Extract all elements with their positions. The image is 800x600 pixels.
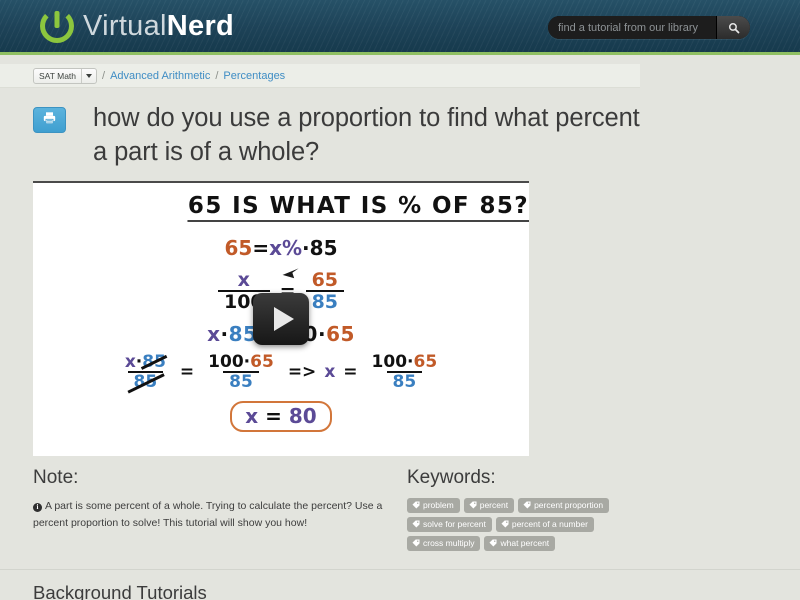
worksheet-equation-1: 65=x%·85 (33, 236, 529, 260)
keyword-tag[interactable]: percent of a number (496, 517, 594, 532)
background-tutorials-section: Background Tutorials (0, 569, 800, 600)
keyword-label: what percent (500, 538, 549, 548)
eq4-equals-1: = (180, 362, 194, 382)
title-row: how do you use a proportion to find what… (33, 102, 653, 170)
keywords-section: Keywords: problem percent percent propor… (407, 467, 653, 551)
search-input[interactable] (548, 16, 716, 39)
eq4-frac1-denominator-cancelled: 85 (128, 371, 164, 391)
eq1-right: 85 (310, 236, 338, 260)
eq4-frac2-numerator: 100·65 (202, 353, 280, 371)
eq1-left: 65 (224, 236, 252, 260)
tag-icon (489, 539, 497, 547)
eq3-65: 65 (326, 322, 355, 346)
eq3-dot-1: · (220, 322, 228, 346)
keyword-tag[interactable]: cross multiply (407, 536, 480, 551)
eq4-f3-65: 65 (414, 352, 438, 372)
info-icon: i (33, 503, 42, 512)
eq2-frac2-denominator: 85 (306, 290, 344, 313)
tag-icon (412, 520, 420, 528)
eq2-frac2-numerator: 65 (306, 270, 344, 291)
eq4-fraction-3: 100·65 85 (366, 353, 444, 392)
keyword-label: percent proportion (534, 500, 603, 510)
note-keywords-row: Note: iA part is some percent of a whole… (33, 467, 653, 551)
printer-icon (42, 111, 57, 130)
background-tutorials-heading: Background Tutorials (33, 582, 800, 600)
logo-text-nerd: Nerd (167, 10, 234, 42)
chevron-down-icon (81, 69, 96, 83)
tag-icon (501, 520, 509, 528)
eq4-frac3-numerator: 100·65 (366, 353, 444, 371)
print-button[interactable] (33, 107, 66, 133)
eq3-x: x (207, 322, 220, 346)
answer-equals: = (265, 404, 282, 428)
eq2-fraction-right: 65 85 (306, 270, 344, 313)
note-heading: Note: (33, 467, 407, 489)
logo-text: VirtualNerd (83, 10, 234, 43)
note-text: A part is some percent of a whole. Tryin… (33, 500, 382, 529)
keyword-tag-list: problem percent percent proportion solve… (407, 498, 653, 551)
note-section: Note: iA part is some percent of a whole… (33, 467, 407, 551)
video-player[interactable]: 65 IS WHAT IS % OF 85? 65=x%·85 x 100 = … (33, 181, 529, 456)
eq4-fraction-2: 100·65 85 (202, 353, 280, 392)
subject-dropdown[interactable]: SAT Math (33, 68, 97, 84)
logo-text-virtual: Virtual (83, 10, 167, 42)
eq4-equals-2: = (343, 362, 357, 382)
tag-icon (412, 501, 420, 509)
eq4-f3-100: 100 (372, 352, 408, 372)
worksheet-answer-row: x = 80 (33, 392, 529, 432)
keyword-tag[interactable]: percent (464, 498, 514, 513)
site-logo[interactable]: VirtualNerd (40, 9, 234, 43)
breadcrumb-separator-1: / (102, 70, 105, 82)
eq2-frac1-numerator: x (232, 270, 256, 291)
play-button[interactable] (253, 293, 309, 345)
tag-icon (523, 501, 531, 509)
keywords-heading: Keywords: (407, 467, 653, 489)
eq1-x-percent: x% (269, 236, 302, 260)
keyword-label: percent (480, 500, 508, 510)
keyword-tag[interactable]: problem (407, 498, 460, 513)
eq4-f1-85-cancelled: 85 (142, 352, 166, 372)
eq4-frac2-denominator: 85 (223, 371, 259, 391)
eq4-fraction-1: x·85 85 (119, 353, 172, 392)
breadcrumb: SAT Math / Advanced Arithmetic / Percent… (0, 64, 640, 88)
answer-x: x (245, 404, 258, 428)
worksheet-title: 65 IS WHAT IS % OF 85? (188, 193, 529, 222)
breadcrumb-link-percentages[interactable]: Percentages (223, 70, 285, 82)
page-title: how do you use a proportion to find what… (93, 102, 653, 170)
eq4-f1-x: x (125, 352, 136, 372)
tag-icon (412, 539, 420, 547)
keyword-label: problem (423, 500, 454, 510)
note-body: iA part is some percent of a whole. Tryi… (33, 498, 407, 533)
keyword-label: cross multiply (423, 538, 474, 548)
breadcrumb-separator-2: / (215, 70, 218, 82)
keyword-label: solve for percent (423, 519, 486, 529)
eq3-dot-2: · (318, 322, 326, 346)
keyword-tag[interactable]: percent proportion (518, 498, 609, 513)
top-navbar: VirtualNerd (0, 0, 800, 55)
search-button[interactable] (716, 16, 750, 39)
eq4-f2-65: 65 (250, 352, 274, 372)
eq4-implies-arrow: => (288, 362, 317, 382)
eq4-frac1-numerator: x·85 (119, 353, 172, 371)
worksheet-answer-box: x = 80 (230, 401, 331, 432)
search-bar[interactable] (548, 16, 750, 39)
keyword-label: percent of a number (512, 519, 588, 529)
breadcrumb-link-advanced-arithmetic[interactable]: Advanced Arithmetic (110, 70, 210, 82)
answer-value: 80 (289, 404, 317, 428)
play-icon (274, 307, 294, 331)
eq4-frac3-denominator: 85 (387, 371, 423, 391)
eq4-x: x (324, 362, 335, 382)
search-icon (728, 22, 740, 34)
tag-icon (469, 501, 477, 509)
eq1-equals: = (252, 236, 269, 260)
subject-dropdown-label: SAT Math (39, 71, 76, 81)
eq1-dot: · (302, 236, 310, 260)
keyword-tag[interactable]: what percent (484, 536, 555, 551)
power-button-icon (40, 9, 74, 43)
keyword-tag[interactable]: solve for percent (407, 517, 492, 532)
worksheet-equation-4: x·85 85 = 100·65 85 => x = 100·65 85 (33, 353, 529, 392)
eq4-f2-100: 100 (208, 352, 244, 372)
